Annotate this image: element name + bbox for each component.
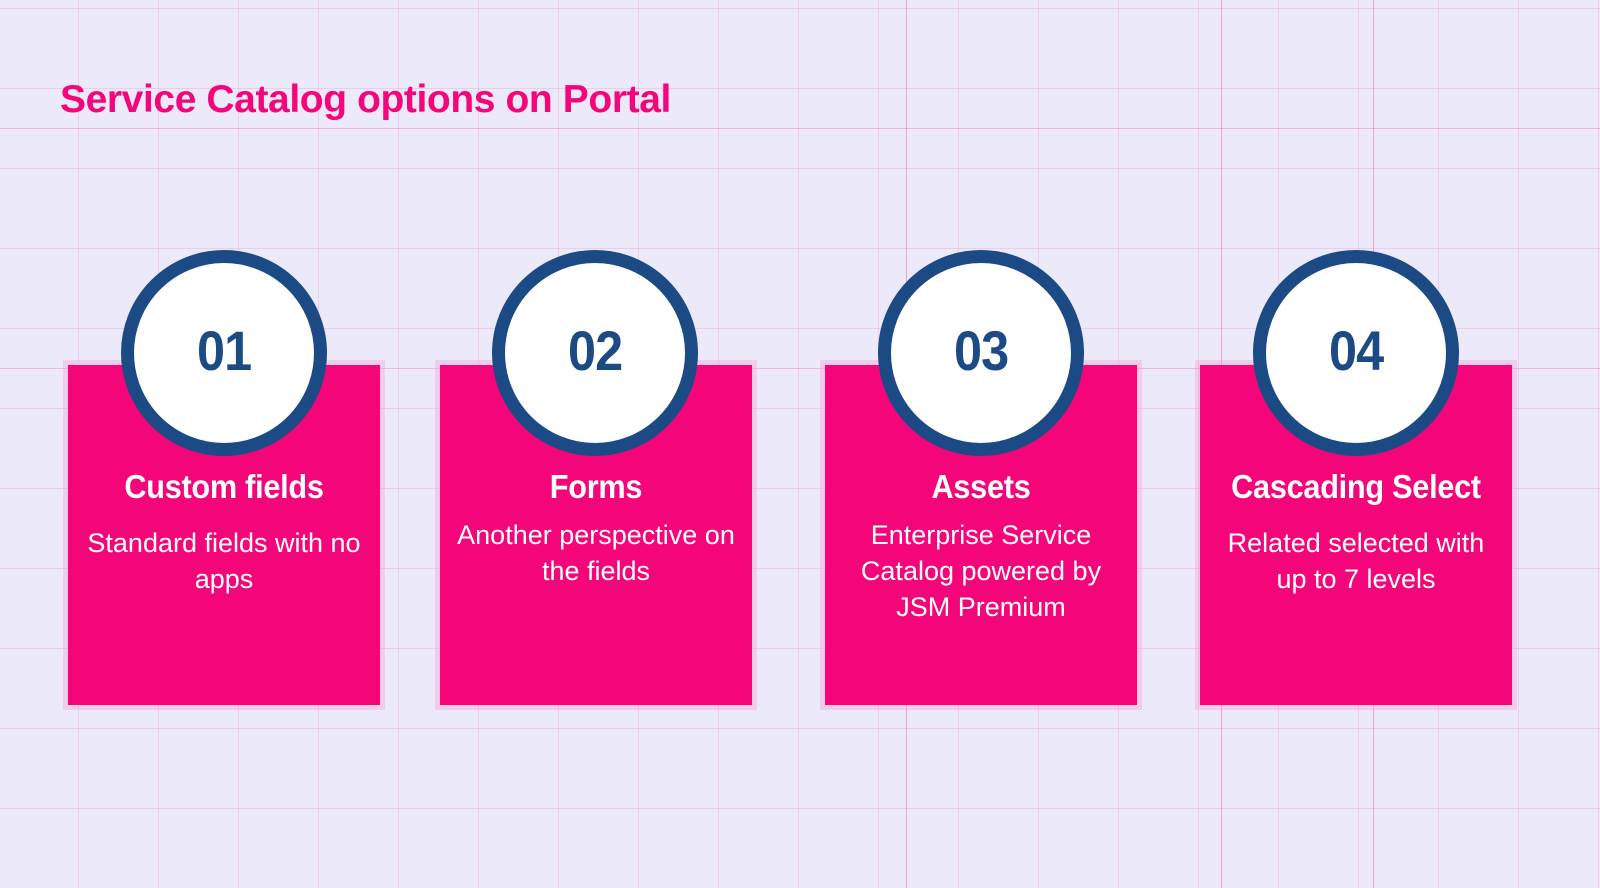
step-number-badge-02: 02 — [492, 250, 698, 456]
step-card-heading: Custom fields — [92, 470, 356, 505]
step-number-badge-03: 03 — [878, 250, 1084, 456]
step-number-badge-04: 04 — [1253, 250, 1459, 456]
step-number-label: 02 — [568, 323, 622, 379]
step-card-body: Standard fields with no apps — [82, 525, 366, 597]
step-card-heading: Cascading Select — [1224, 470, 1488, 505]
step-card-heading: Assets — [849, 470, 1113, 505]
step-card-heading: Forms — [464, 470, 728, 505]
step-number-label: 01 — [197, 323, 251, 379]
step-number-label: 04 — [1329, 323, 1383, 379]
step-card-body: Enterprise Service Catalog powered by JS… — [839, 517, 1123, 626]
slide-canvas: Service Catalog options on Portal Custom… — [0, 0, 1600, 888]
steps-container: Custom fields Standard fields with no ap… — [0, 0, 1600, 888]
step-number-label: 03 — [954, 323, 1008, 379]
step-card-body: Related selected with up to 7 levels — [1214, 525, 1498, 597]
step-card-body: Another perspective on the fields — [454, 517, 738, 589]
step-number-badge-01: 01 — [121, 250, 327, 456]
